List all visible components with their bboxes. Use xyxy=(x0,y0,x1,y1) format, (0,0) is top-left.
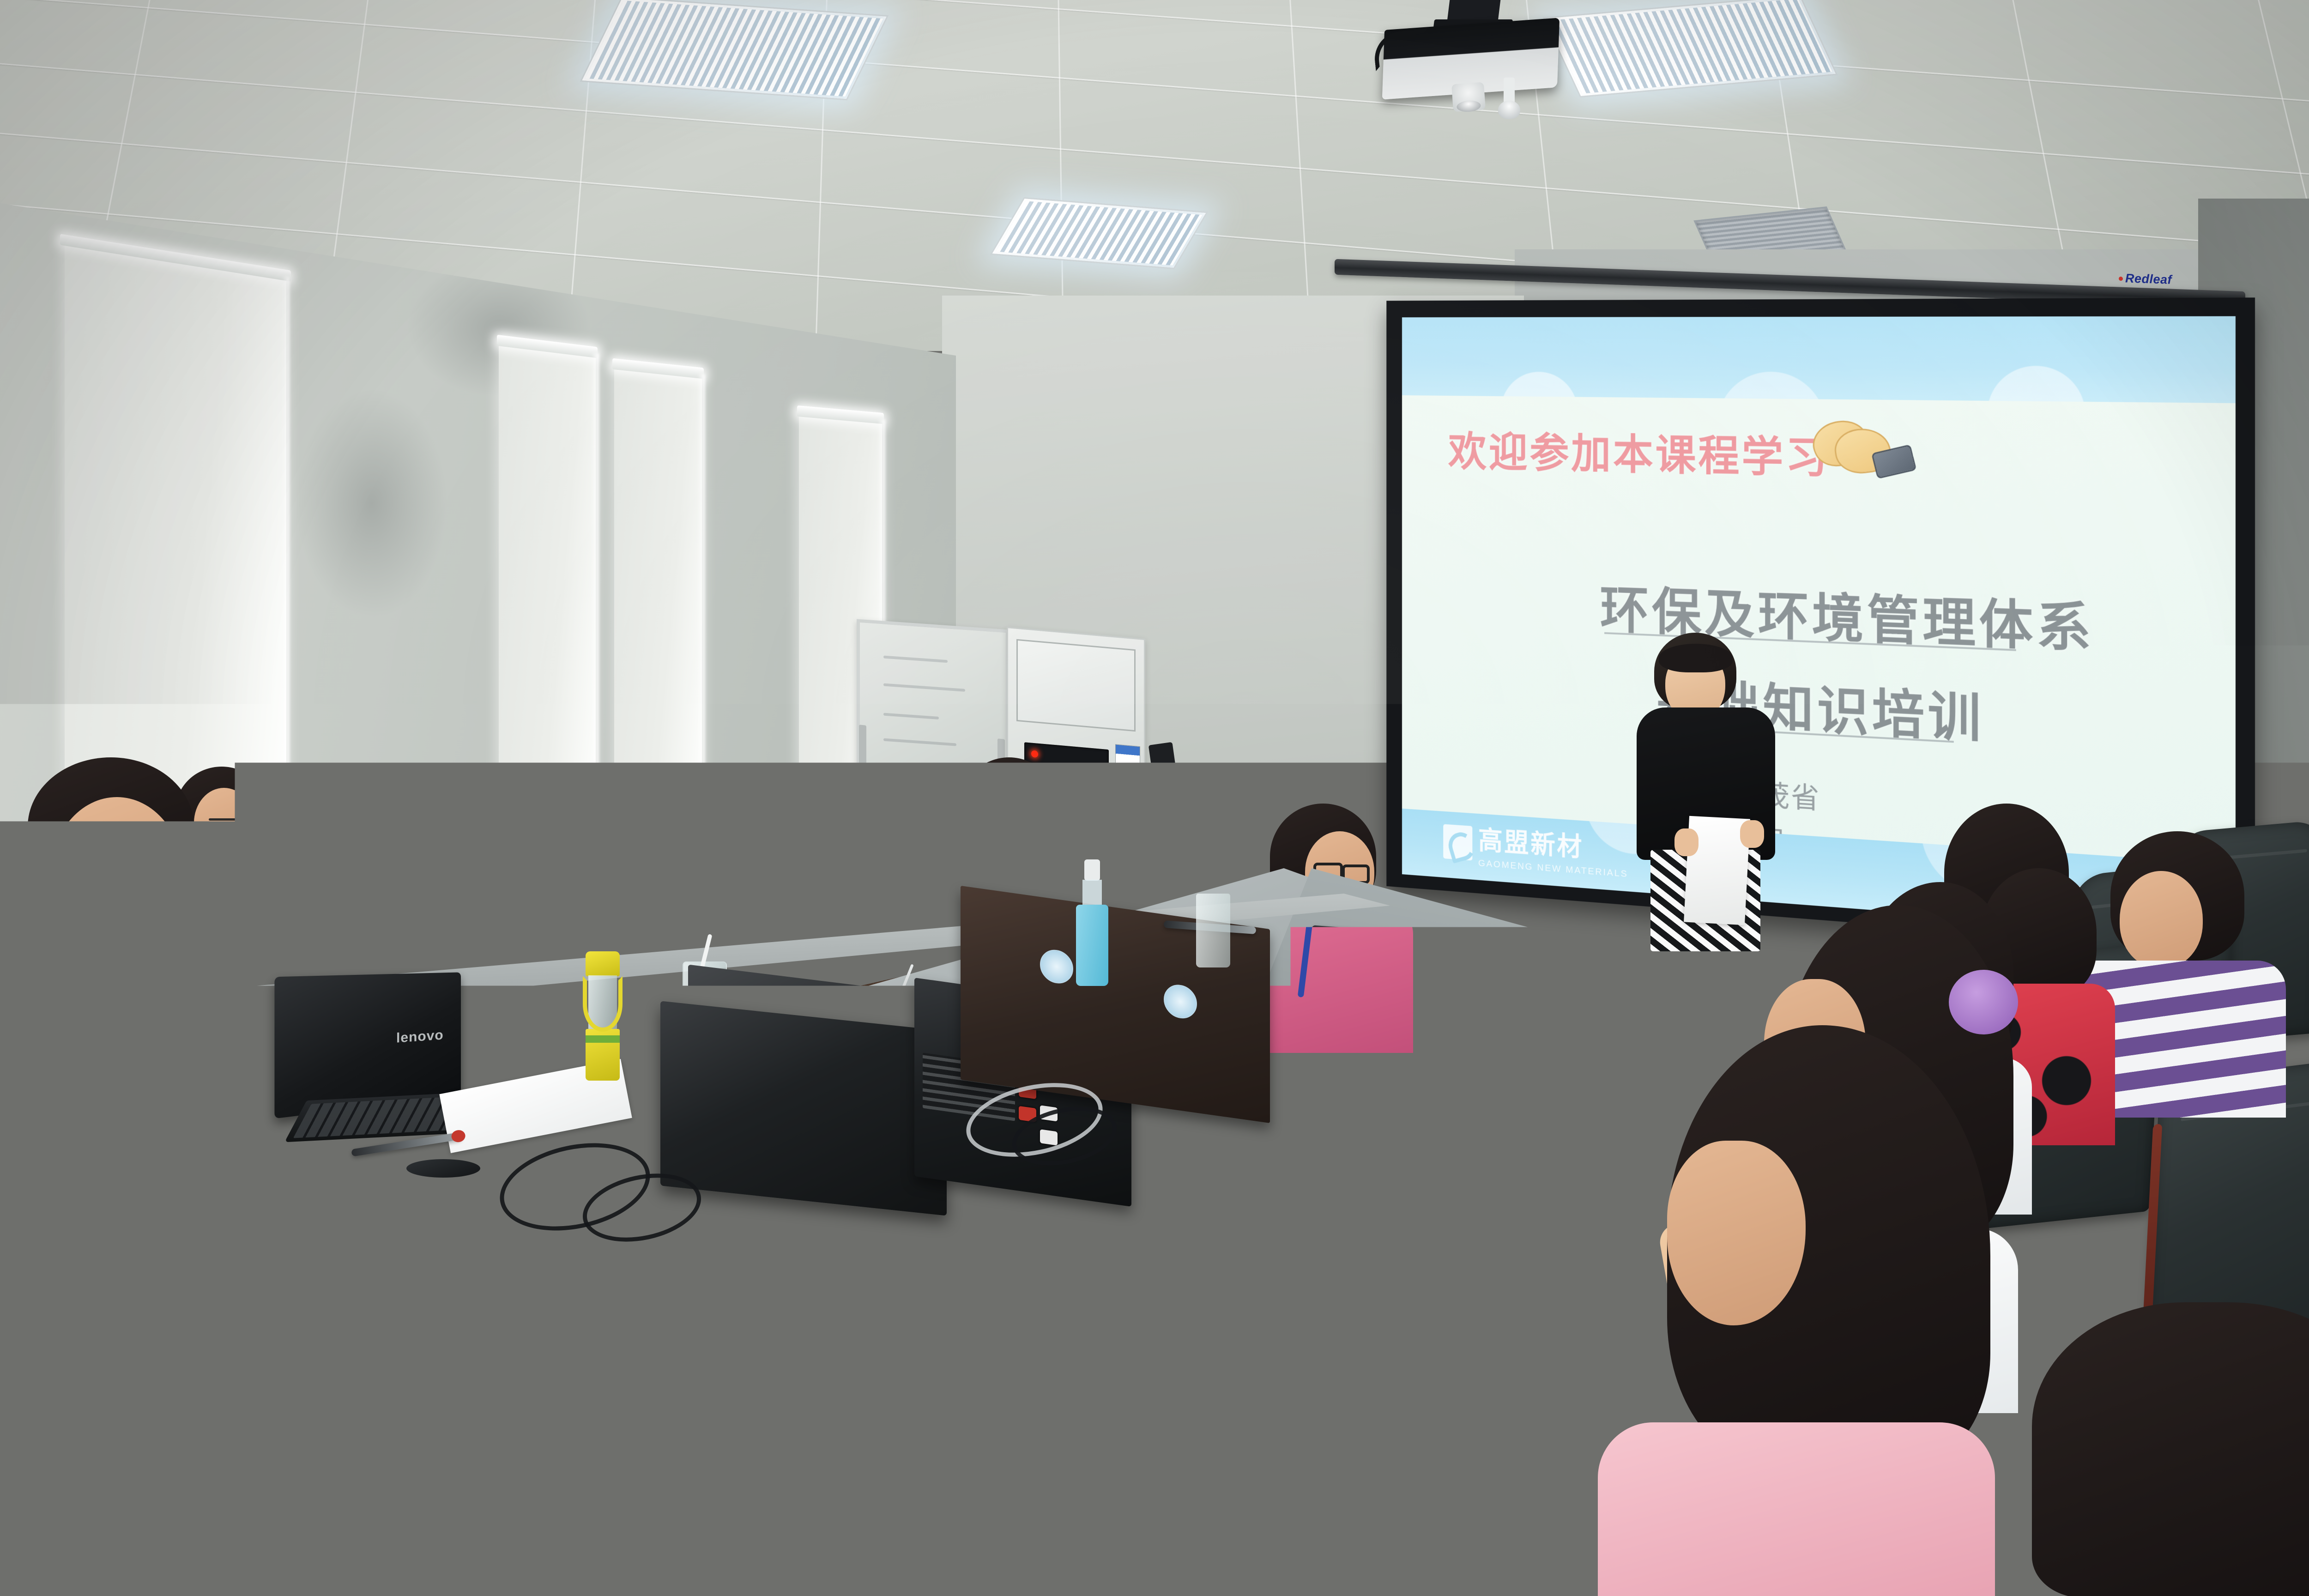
eyeglasses-icon xyxy=(68,865,117,898)
screen-brand-label: Redleaf xyxy=(2119,271,2202,290)
fire-sprinkler-icon xyxy=(1496,78,1522,120)
company-mark-icon xyxy=(1443,824,1472,860)
presenter-fringe xyxy=(1659,644,1733,672)
eyeglasses-icon xyxy=(119,866,168,899)
notebook-brand-label: LG xyxy=(1522,1353,1542,1370)
slide-logo-cn: 高盟新材 xyxy=(1478,826,1584,862)
phone-screen[interactable] xyxy=(1170,1409,1310,1484)
eyeglasses-icon xyxy=(607,893,640,916)
window-blind xyxy=(614,365,702,840)
mug-emblem-icon xyxy=(74,1143,100,1169)
whiteboard-knob[interactable] xyxy=(851,775,866,791)
ceiling-projector-icon xyxy=(1378,0,1577,120)
eyeglasses-icon xyxy=(734,896,767,919)
paper-cup[interactable] xyxy=(1510,1099,1553,1160)
presenter-hand xyxy=(1674,828,1699,856)
slide-welcome-text: 欢迎参加本课程学习 xyxy=(1448,418,1830,485)
eyeglasses-icon xyxy=(981,817,1012,839)
tea-glass[interactable] xyxy=(1321,889,1355,963)
eyeglasses-icon xyxy=(1011,818,1041,839)
eyeglasses-icon xyxy=(1201,852,1232,873)
window-blind xyxy=(499,341,596,843)
blue-bottle[interactable] xyxy=(1076,880,1108,986)
clapping-hands-icon xyxy=(1809,417,1918,484)
enamel-mug[interactable] xyxy=(51,1106,120,1205)
eyeglasses-icon xyxy=(1168,850,1202,872)
shirt-logo xyxy=(152,1076,212,1105)
microphone-base xyxy=(406,1159,480,1178)
conference-room-photo: Redleaf 欢迎参加本课程学习 环保及环境管理体系 基础知识培训 部：姚茂省… xyxy=(0,0,2309,1596)
presenter-person xyxy=(1630,633,1783,951)
laptop-brand-label: lenovo xyxy=(396,1027,444,1046)
hair-scrunchie xyxy=(1949,970,2018,1034)
slide-top-band xyxy=(1402,316,2236,403)
presenter-hand xyxy=(1740,820,1764,848)
audio-amplifier xyxy=(660,1001,947,1215)
eyeglasses-icon xyxy=(701,895,735,918)
screen-brand-text: Redleaf xyxy=(2125,271,2172,287)
eyeglasses-icon xyxy=(573,891,608,915)
yellow-bottle[interactable] xyxy=(583,951,623,1081)
window-blind xyxy=(65,241,286,840)
tea-glass[interactable] xyxy=(1196,894,1230,967)
